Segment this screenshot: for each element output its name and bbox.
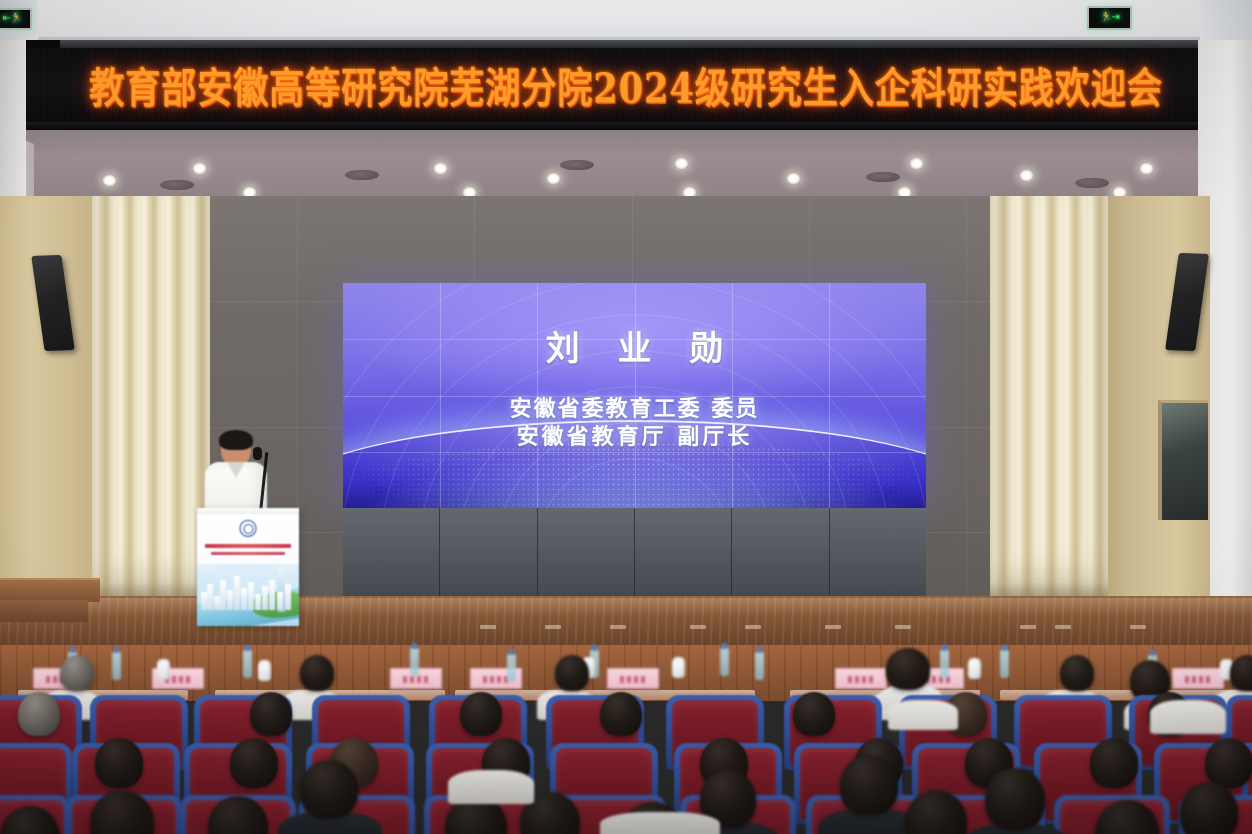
- led-base-cabinet: [440, 508, 537, 602]
- audience-head: [60, 655, 94, 691]
- stage-tape-marker: [825, 625, 841, 629]
- ceiling-speaker-icon: [560, 160, 594, 170]
- artwork-building: [269, 580, 275, 610]
- led-base-cabinet: [343, 508, 440, 602]
- audience-head: [95, 738, 143, 788]
- stage-tape-marker: [610, 625, 626, 629]
- downlight-icon: [675, 158, 688, 169]
- podium-headline-1: [205, 544, 291, 548]
- led-base-cabinet: [830, 508, 926, 602]
- audience-head: [555, 655, 589, 691]
- artwork-building: [220, 580, 226, 610]
- university-emblem-icon: [240, 520, 257, 537]
- audience-shoulders: [888, 700, 958, 730]
- exit-icon: ⇤🏃: [3, 14, 22, 24]
- attendee-namecard: [1172, 668, 1224, 689]
- ceiling-right-column: [1200, 0, 1252, 40]
- stage-step-lower: [0, 600, 88, 622]
- stage-step-upper: [0, 578, 100, 602]
- audience-head: [1180, 782, 1238, 834]
- exit-sign-left: ⇤🏃: [0, 8, 32, 30]
- downlight-icon: [193, 163, 206, 174]
- led-video-wall: 刘 业 勋 安徽省委教育工委 委员 安徽省教育厅 副厅长: [343, 283, 926, 508]
- water-bottle: [755, 652, 764, 680]
- led-wall-base-cabinets: [343, 508, 926, 602]
- audience-head: [250, 692, 292, 736]
- artwork-building: [227, 590, 233, 610]
- tea-cup: [258, 663, 271, 681]
- podium: [197, 508, 299, 626]
- podium-headline-2: [211, 552, 285, 555]
- attendee-namecard: [607, 668, 659, 689]
- banner-bottom-edge: [0, 122, 1252, 130]
- speaker-title-line-2: 安徽省教育厅 副厅长: [517, 424, 753, 452]
- stage-tape-marker: [480, 625, 496, 629]
- audience-head: [1205, 738, 1252, 788]
- tea-cup: [157, 662, 170, 680]
- banner-text: 教育部安徽高等研究院芜湖分院2024级研究生入企科研实践欢迎会: [89, 55, 1162, 115]
- artwork-building: [241, 588, 247, 610]
- led-text-block: 刘 业 勋 安徽省委教育工委 委员 安徽省教育厅 副厅长: [343, 283, 926, 508]
- downlight-icon: [547, 173, 560, 184]
- audience-head: [18, 692, 60, 736]
- artwork-building: [207, 584, 213, 610]
- attendee-namecard: [835, 668, 887, 689]
- auditorium-scene: ⇤🏃 🏃⇥ 教育部安徽高等研究院芜湖分院2024级研究生入企科研实践欢迎会 刘 …: [0, 0, 1252, 834]
- audience-shoulders: [1150, 700, 1226, 734]
- microphone-icon: [253, 447, 262, 460]
- downlight-icon: [1140, 163, 1153, 174]
- audience-shoulders: [448, 770, 534, 804]
- audience-head: [230, 738, 278, 788]
- stage-curtain-right: [990, 196, 1108, 600]
- water-bottle: [410, 648, 419, 676]
- water-bottle: [243, 650, 252, 678]
- stage-tape-marker: [1020, 625, 1036, 629]
- water-bottle: [112, 652, 121, 680]
- downlight-icon: [910, 158, 923, 169]
- wall-seam: [966, 196, 967, 616]
- ceiling-speaker-icon: [1075, 178, 1109, 188]
- artwork-building: [234, 576, 240, 610]
- audience-head: [1060, 655, 1094, 691]
- audience-head: [600, 692, 642, 736]
- downlight-icon: [103, 175, 116, 186]
- tea-cup: [968, 661, 981, 679]
- artwork-building: [285, 584, 291, 610]
- artwork-building: [262, 586, 268, 610]
- artwork-building: [255, 594, 261, 610]
- audience-shoulders: [600, 812, 720, 834]
- ceiling-white-soffit: [0, 0, 1252, 40]
- led-base-cabinet: [732, 508, 829, 602]
- led-banner-display: 教育部安徽高等研究院芜湖分院2024级研究生入企科研实践欢迎会: [0, 48, 1252, 122]
- ceiling-speaker-icon: [866, 172, 900, 182]
- water-bottle: [1000, 650, 1009, 678]
- stage-tape-marker: [745, 625, 761, 629]
- presenter-hair: [219, 430, 253, 450]
- audience-head: [886, 648, 930, 690]
- downlight-icon: [1020, 170, 1033, 181]
- water-bottle: [940, 650, 949, 678]
- ceiling-speaker-icon: [160, 180, 194, 190]
- stage-tape-marker: [895, 625, 911, 629]
- stage-curtain-left: [92, 196, 210, 600]
- audience-head: [1230, 655, 1252, 691]
- water-bottle: [507, 654, 516, 682]
- stage-tape-marker: [1055, 625, 1071, 629]
- audience-head: [300, 655, 334, 691]
- led-base-cabinet: [538, 508, 635, 602]
- downlight-icon: [787, 173, 800, 184]
- control-booth-window: [1158, 400, 1208, 520]
- audience-head: [300, 760, 358, 818]
- ceiling-speaker-icon: [345, 170, 379, 180]
- speaker-title-line-1: 安徽省委教育工委 委员: [510, 396, 760, 424]
- water-bottle: [720, 648, 729, 676]
- audience-head: [1090, 738, 1138, 788]
- stage-tape-marker: [690, 625, 706, 629]
- downlight-icon: [434, 163, 447, 174]
- led-base-cabinet: [635, 508, 732, 602]
- audience-head: [840, 755, 898, 815]
- artwork-building: [277, 592, 283, 610]
- stage-floor-highlight: [0, 598, 1252, 616]
- podium-top-edge: [197, 508, 299, 514]
- artwork-building: [248, 582, 254, 610]
- exit-icon: 🏃⇥: [1100, 13, 1119, 23]
- tea-cup: [672, 660, 685, 678]
- audience-head: [460, 692, 502, 736]
- stage-tape-marker: [545, 625, 561, 629]
- audience-head: [793, 692, 835, 736]
- stage-tape-marker: [1130, 625, 1146, 629]
- exit-sign-right: 🏃⇥: [1087, 6, 1132, 30]
- podium-cityscape-artwork: [197, 564, 299, 626]
- speaker-name: 刘 业 勋: [533, 321, 737, 370]
- led-banner-housing: 教育部安徽高等研究院芜湖分院2024级研究生入企科研实践欢迎会: [0, 40, 1252, 130]
- audience-head: [985, 768, 1045, 830]
